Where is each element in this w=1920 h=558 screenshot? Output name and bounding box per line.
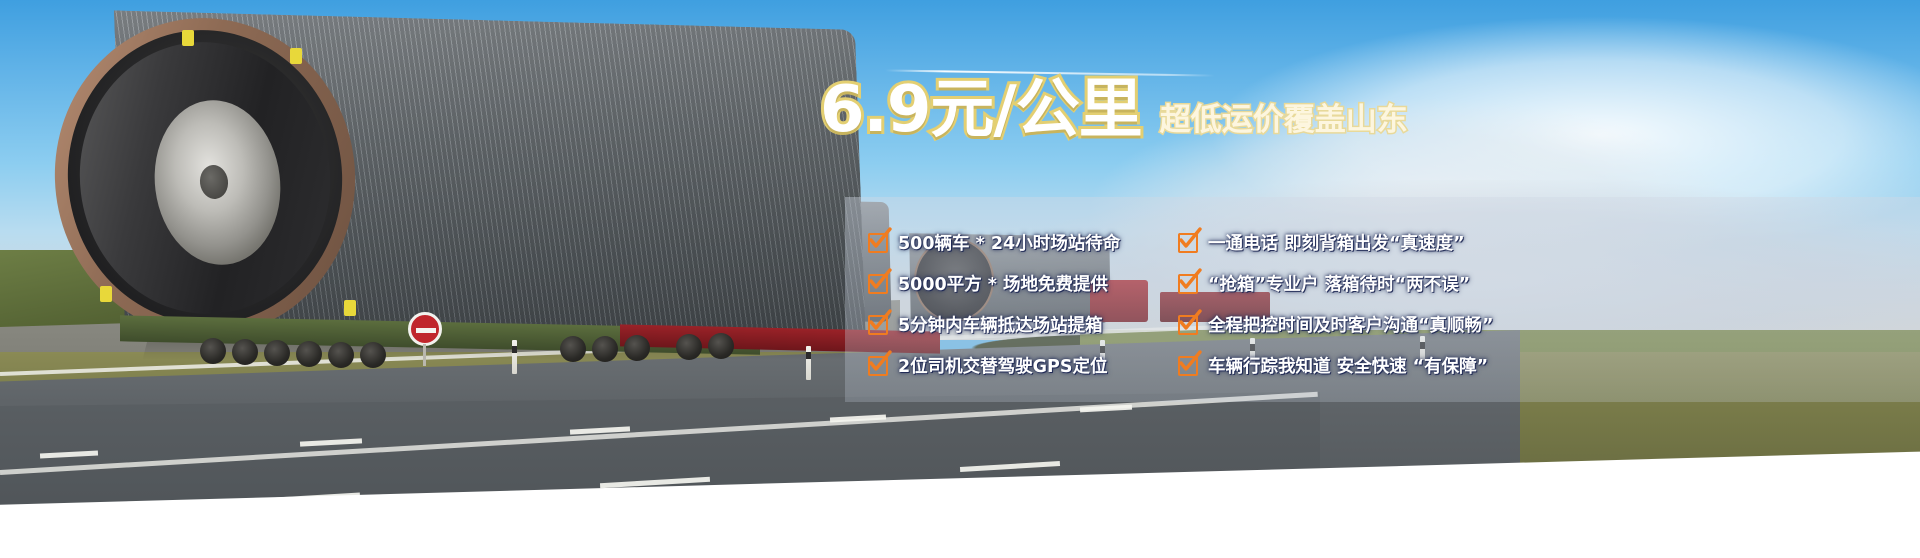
trailer-wheel — [360, 342, 386, 368]
lashing-bracket — [100, 286, 112, 302]
trailer-wheel — [328, 342, 354, 368]
feature-item: 5分钟内车辆抵达场站提箱 — [868, 304, 1154, 345]
trailer-wheel — [200, 338, 226, 364]
lashing-bracket — [344, 300, 356, 316]
check-box-icon — [1178, 356, 1198, 376]
lashing-bracket — [290, 48, 302, 64]
feature-label: 一通电话 即刻背箱出发“真速度” — [1208, 230, 1465, 255]
feature-item: 500辆车 * 24小时场站待命 — [868, 222, 1154, 263]
check-box-icon — [868, 233, 888, 253]
check-box-icon — [1178, 315, 1198, 335]
trailer-wheel — [708, 333, 734, 359]
trailer-wheel — [560, 336, 586, 362]
price-subheadline: 超低运价覆盖山东 — [1160, 105, 1408, 142]
check-box-icon — [1178, 233, 1198, 253]
features-grid: 500辆车 * 24小时场站待命 一通电话 即刻背箱出发“真速度” 5000平方… — [868, 222, 1920, 387]
trailer-wheel — [264, 340, 290, 366]
feature-item: 5000平方 * 场地免费提供 — [868, 263, 1154, 304]
check-box-icon — [868, 274, 888, 294]
feature-item: “抢箱”专业户 落箱待时“两不误” — [1178, 263, 1920, 304]
feature-label: 2位司机交替驾驶GPS定位 — [898, 353, 1107, 378]
trailer-wheel — [624, 335, 650, 361]
no-entry-sign-icon — [408, 312, 442, 346]
feature-label: 5分钟内车辆抵达场站提箱 — [898, 312, 1103, 337]
trailer-wheel — [232, 339, 258, 365]
promotional-banner: 6.9元/公里 超低运价覆盖山东 500辆车 * 24小时场站待命 一通电话 即… — [0, 0, 1920, 558]
roadside-marker-post — [512, 340, 517, 374]
trailer-wheel — [296, 341, 322, 367]
feature-label: 全程把控时间及时客户沟通“真顺畅” — [1208, 312, 1494, 337]
feature-label: 500辆车 * 24小时场站待命 — [898, 230, 1120, 255]
roadside-marker-post — [806, 346, 811, 380]
check-box-icon — [868, 356, 888, 376]
feature-label: 5000平方 * 场地免费提供 — [898, 271, 1108, 296]
feature-item: 全程把控时间及时客户沟通“真顺畅” — [1178, 304, 1920, 345]
trailer-wheel — [676, 334, 702, 360]
feature-label: “抢箱”专业户 落箱待时“两不误” — [1208, 271, 1470, 296]
headline-group: 6.9元/公里 超低运价覆盖山东 — [820, 78, 1408, 142]
check-box-icon — [1178, 274, 1198, 294]
lashing-bracket — [182, 30, 194, 46]
feature-label: 车辆行踪我知道 安全快速 “有保障” — [1208, 353, 1488, 378]
trailer-wheel — [592, 336, 618, 362]
feature-item: 2位司机交替驾驶GPS定位 — [868, 345, 1154, 386]
feature-item: 车辆行踪我知道 安全快速 “有保障” — [1178, 345, 1920, 386]
no-entry-sign-post — [423, 344, 426, 366]
feature-item: 一通电话 即刻背箱出发“真速度” — [1178, 222, 1920, 263]
check-box-icon — [868, 315, 888, 335]
price-headline: 6.9元/公里 — [820, 78, 1142, 142]
